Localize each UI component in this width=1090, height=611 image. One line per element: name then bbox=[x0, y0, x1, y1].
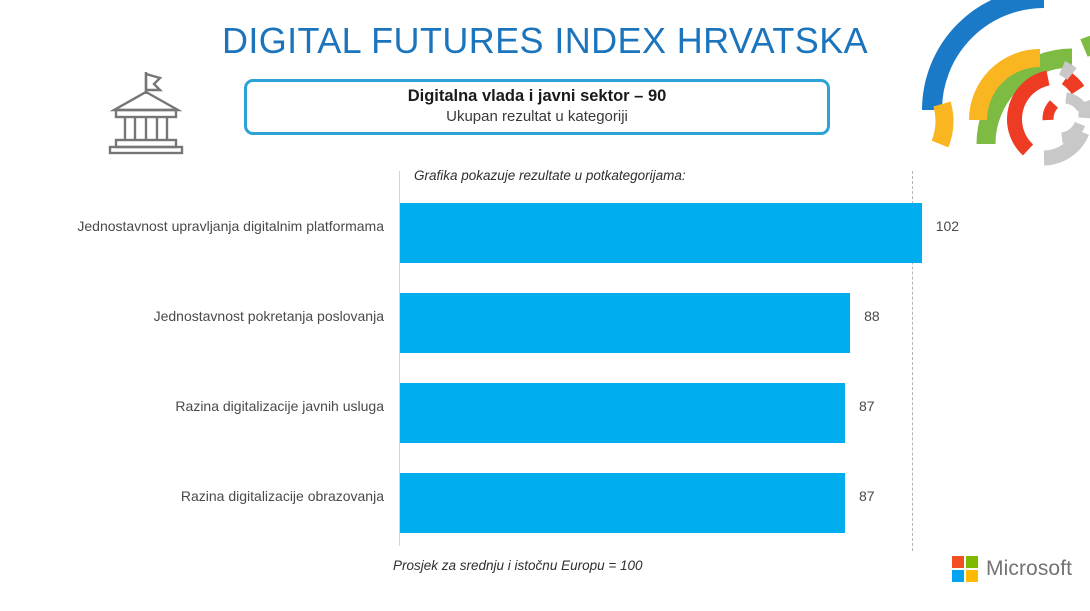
microsoft-logo: Microsoft bbox=[952, 556, 1072, 582]
chart-bar-row: Razina digitalizacije javnih usluga87 bbox=[0, 368, 1090, 458]
chart-footnote: Prosjek za srednju i istočnu Europu = 10… bbox=[393, 558, 643, 573]
chart-bar-value: 88 bbox=[864, 308, 880, 324]
chart-bar-value: 87 bbox=[859, 488, 875, 504]
chart-bar-label: Jednostavnost upravljanja digitalnim pla… bbox=[77, 218, 384, 234]
chart-bar[interactable] bbox=[400, 473, 845, 533]
chart-bar-label: Jednostavnost pokretanja poslovanja bbox=[154, 308, 384, 324]
chart-bar[interactable] bbox=[400, 383, 845, 443]
chart-bar[interactable] bbox=[400, 293, 850, 353]
chart-bar-row: Jednostavnost upravljanja digitalnim pla… bbox=[0, 188, 1090, 278]
microsoft-logo-squares bbox=[952, 556, 978, 582]
chart-bar-value: 102 bbox=[936, 218, 959, 234]
chart-note: Grafika pokazuje rezultate u potkategori… bbox=[414, 168, 686, 183]
category-score-subtitle: Ukupan rezultat u kategoriji bbox=[446, 108, 628, 127]
category-score-title: Digitalna vlada i javni sektor – 90 bbox=[408, 87, 667, 107]
category-score-box: Digitalna vlada i javni sektor – 90 Ukup… bbox=[244, 79, 830, 135]
microsoft-wordmark: Microsoft bbox=[986, 557, 1072, 581]
chart-bar-row: Jednostavnost pokretanja poslovanja88 bbox=[0, 278, 1090, 368]
page-title: DIGITAL FUTURES INDEX HRVATSKA bbox=[0, 20, 1090, 62]
chart-bar-row: Razina digitalizacije obrazovanja87 bbox=[0, 458, 1090, 548]
chart-bar-value: 87 bbox=[859, 398, 875, 414]
chart-bar-label: Razina digitalizacije obrazovanja bbox=[181, 488, 384, 504]
chart-bar[interactable] bbox=[400, 203, 922, 263]
government-building-icon bbox=[96, 60, 196, 160]
chart-bar-label: Razina digitalizacije javnih usluga bbox=[175, 398, 384, 414]
subcategory-bar-chart: Grafika pokazuje rezultate u potkategori… bbox=[0, 165, 1090, 565]
